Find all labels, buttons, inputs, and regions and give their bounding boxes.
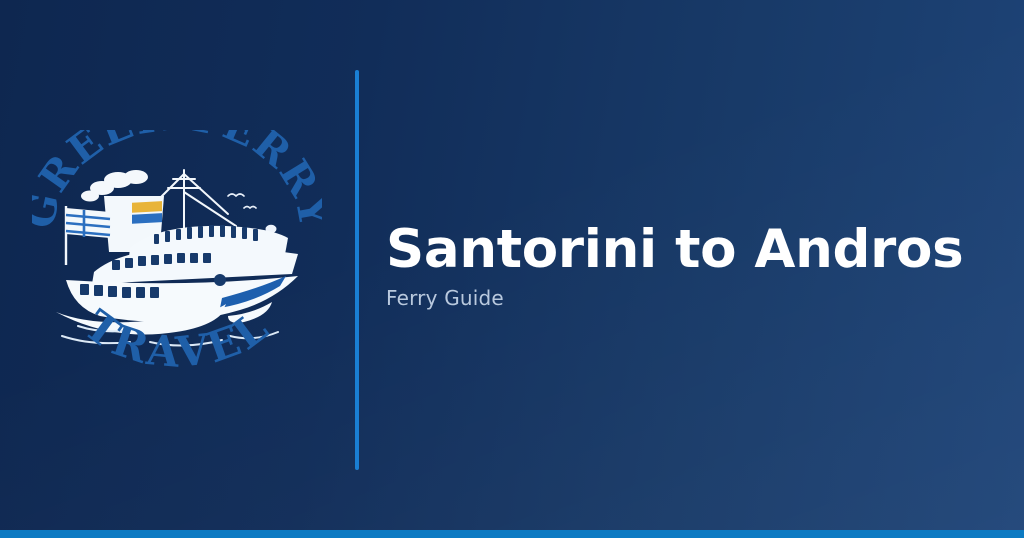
seagull-icons (228, 194, 256, 208)
greek-ferry-travel-logo[interactable]: GREEK FERRY (32, 130, 322, 380)
vertical-divider (355, 70, 359, 470)
page-subtitle: Ferry Guide (386, 286, 1006, 310)
page-title: Santorini to Andros (386, 222, 1006, 278)
banner-text-block: Santorini to Andros Ferry Guide (386, 222, 1006, 310)
greek-flag-icon (66, 206, 110, 265)
bottom-accent-bar (0, 530, 1024, 538)
ferry-guide-banner: GREEK FERRY (0, 0, 1024, 538)
logo-illustration-svg: GREEK FERRY (32, 130, 322, 380)
